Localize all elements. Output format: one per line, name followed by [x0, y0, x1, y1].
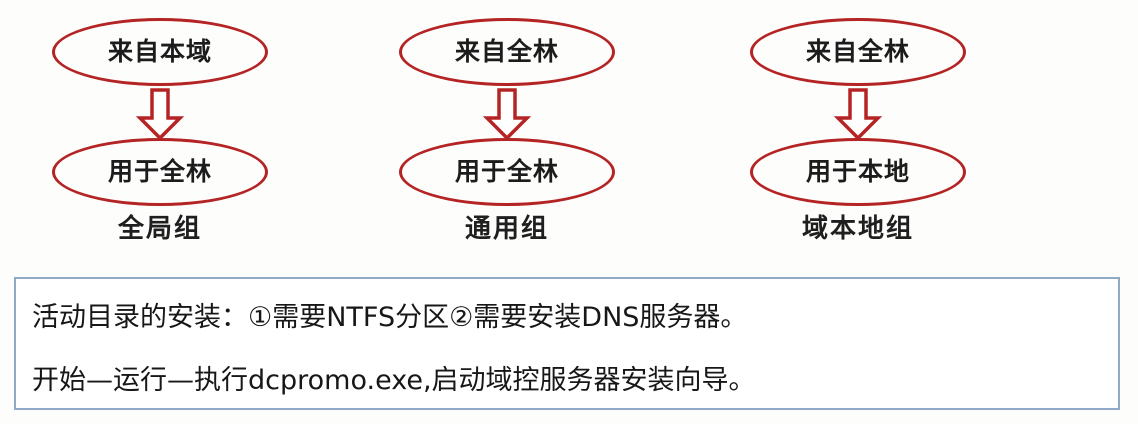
ellipse-target-node: 用于全林 [52, 138, 268, 206]
group-caption: 域本地组 [708, 208, 1008, 245]
ellipse-source-node: 来自全林 [399, 18, 615, 86]
ellipse-target-label: 用于全林 [108, 159, 212, 184]
ellipse-target-label: 用于本地 [806, 159, 910, 184]
group-caption: 通用组 [357, 208, 657, 245]
ellipse-target-node: 用于本地 [750, 138, 966, 206]
ellipse-target-label: 用于全林 [455, 159, 559, 184]
ellipse-source-node: 来自本域 [52, 18, 268, 86]
down-arrow-icon [399, 86, 615, 142]
ellipse-source-label: 来自本域 [108, 39, 212, 64]
ellipse-source-label: 来自全林 [806, 39, 910, 64]
group-caption: 全局组 [10, 208, 310, 245]
ellipse-target-node: 用于全林 [399, 138, 615, 206]
group-column-universal: 来自全林 用于全林 通用组 [357, 8, 657, 258]
ellipse-source-label: 来自全林 [455, 39, 559, 64]
group-column-global: 来自本域 用于全林 全局组 [10, 8, 310, 258]
note-box: 活动目录的安装：①需要NTFS分区②需要安装DNS服务器。 开始—运行—执行dc… [14, 277, 1120, 410]
group-scope-diagram: 来自本域 用于全林 全局组 来自全林 用于全林 通用组 来自全林 [0, 0, 1138, 260]
ellipse-source-node: 来自全林 [750, 18, 966, 86]
down-arrow-icon [52, 86, 268, 142]
down-arrow-icon [750, 86, 966, 142]
group-column-domain-local: 来自全林 用于本地 域本地组 [708, 8, 1008, 258]
note-line-install-requirements: 活动目录的安装：①需要NTFS分区②需要安装DNS服务器。 [32, 295, 747, 334]
note-line-dcpromo-steps: 开始—运行—执行dcpromo.exe,启动域控服务器安装向导。 [32, 358, 756, 397]
